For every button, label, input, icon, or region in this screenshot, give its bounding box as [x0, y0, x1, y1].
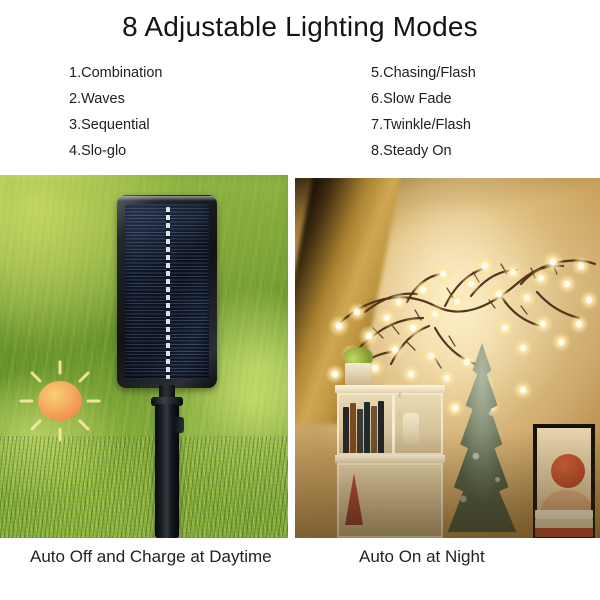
mode-item: 5.Chasing/Flash [371, 60, 476, 86]
solar-panel-frame [117, 195, 217, 388]
mode-item: 6.Slow Fade [371, 86, 476, 112]
photo-night-vine-lights [295, 178, 600, 538]
shelf-top [335, 385, 445, 393]
modes-column-right: 5.Chasing/Flash 6.Slow Fade 7.Twinkle/Fl… [371, 60, 476, 164]
stake-clip [175, 417, 184, 433]
caption-band: Auto Off and Charge at Daytime Auto On a… [0, 538, 600, 600]
mode-item: 3.Sequential [69, 112, 163, 138]
photo-daytime-solar-panel [0, 175, 288, 538]
caption-daytime: Auto Off and Charge at Daytime [30, 545, 280, 568]
page-title: 8 Adjustable Lighting Modes [0, 11, 600, 43]
mode-item: 8.Steady On [371, 138, 476, 164]
photo-band [0, 175, 600, 538]
modes-column-left: 1.Combination 2.Waves 3.Sequential 4.Slo… [69, 60, 163, 164]
mode-item: 4.Slo-glo [69, 138, 163, 164]
solar-panel-busbar [166, 207, 170, 379]
plant-pot [345, 363, 371, 385]
floor-shadow [295, 430, 600, 538]
mode-item: 7.Twinkle/Flash [371, 112, 476, 138]
lighting-modes-list: 1.Combination 2.Waves 3.Sequential 4.Slo… [0, 60, 600, 170]
solar-lamp [117, 195, 217, 538]
caption-night: Auto On at Night [359, 545, 589, 568]
mode-item: 2.Waves [69, 86, 163, 112]
header-section: 8 Adjustable Lighting Modes 1.Combinatio… [0, 0, 600, 175]
sun-icon [18, 359, 102, 443]
mode-item: 1.Combination [69, 60, 163, 86]
